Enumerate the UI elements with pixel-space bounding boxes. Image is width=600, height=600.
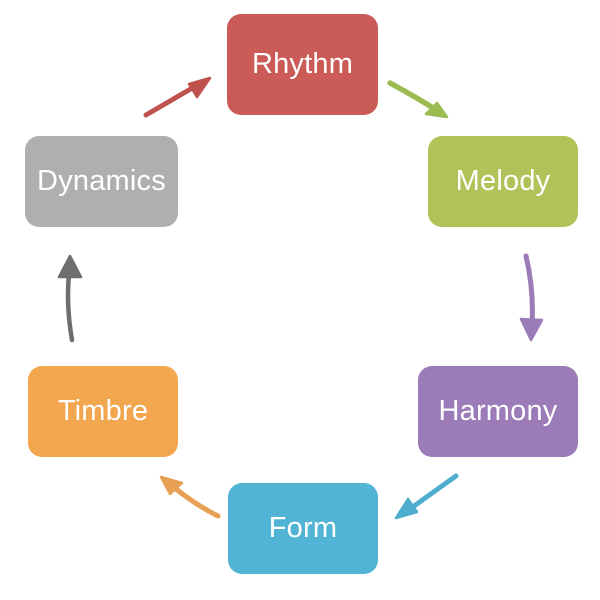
node-form-label: Form <box>269 514 337 543</box>
arrow-form-to-timbre <box>161 477 218 516</box>
node-rhythm-label: Rhythm <box>252 50 353 79</box>
node-harmony-label: Harmony <box>438 397 557 426</box>
cycle-diagram: Rhythm Melody Harmony Form Timbre Dynami… <box>0 0 600 600</box>
arrow-timbre-to-dynamics <box>59 256 81 340</box>
node-dynamics-label: Dynamics <box>37 167 166 196</box>
node-timbre[interactable]: Timbre <box>28 366 178 457</box>
node-form[interactable]: Form <box>228 483 378 574</box>
node-harmony[interactable]: Harmony <box>418 366 578 457</box>
arrow-rhythm-to-melody <box>390 83 447 117</box>
arrow-harmony-to-form <box>396 476 456 518</box>
node-melody[interactable]: Melody <box>428 136 578 227</box>
arrow-melody-to-harmony <box>521 256 542 340</box>
node-dynamics[interactable]: Dynamics <box>25 136 178 227</box>
node-rhythm[interactable]: Rhythm <box>227 14 378 115</box>
node-melody-label: Melody <box>456 167 551 196</box>
node-timbre-label: Timbre <box>58 397 148 426</box>
arrow-dynamics-to-rhythm <box>146 78 210 115</box>
